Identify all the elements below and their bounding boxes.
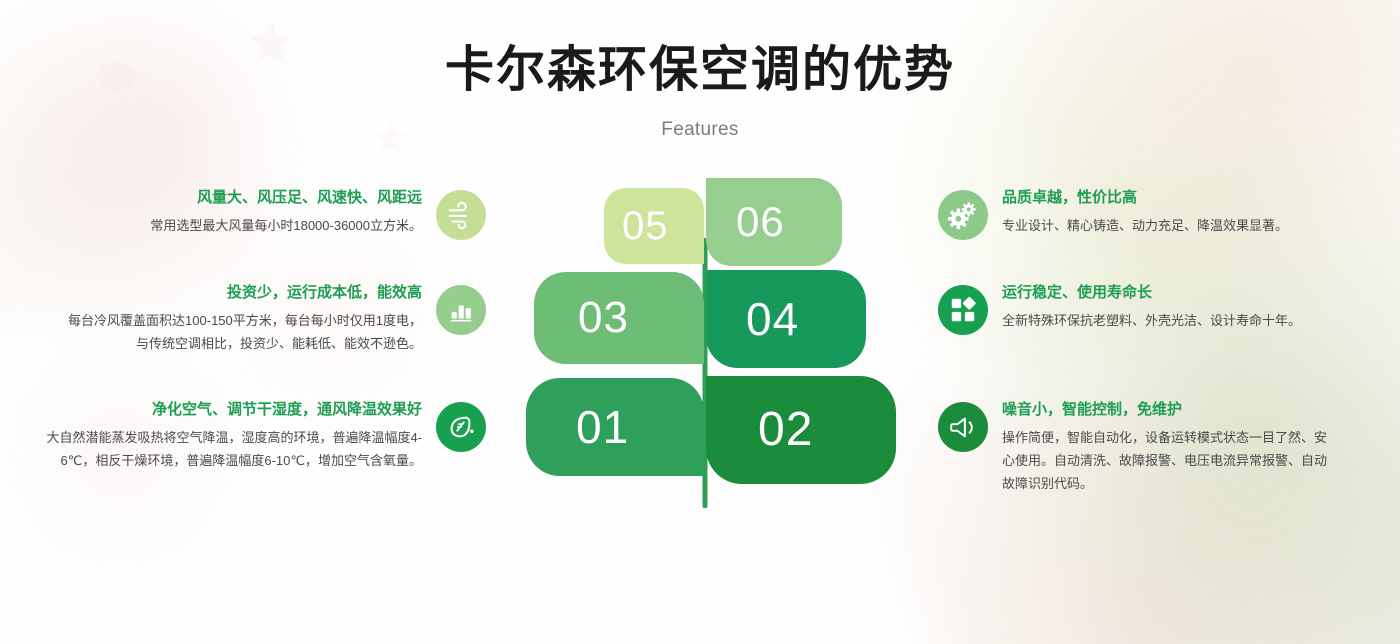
leaf-number: 03	[578, 296, 629, 340]
feature-text-quality: 品质卓越，性价比高 专业设计、精心铸造、动力充足、降温效果显著。	[1002, 188, 1288, 238]
feature-text-stability: 运行稳定、使用寿命长 全新特殊环保抗老塑料、外壳光洁、设计寿命十年。	[1002, 283, 1301, 333]
feature-item-noise[interactable]: 噪音小，智能控制，免维护 操作简便，智能自动化，设备运转模式状态一目了然、安心使…	[938, 400, 1338, 496]
leaf-badge-04[interactable]: 04	[706, 270, 866, 368]
feature-title: 净化空气、调节干湿度，通风降温效果好	[152, 400, 422, 420]
feature-description: 全新特殊环保抗老塑料、外壳光洁、设计寿命十年。	[1002, 310, 1301, 333]
leaf-number: 04	[746, 296, 799, 342]
grid-squares-icon	[938, 285, 988, 335]
leaf-badge-03[interactable]: 03	[534, 272, 704, 364]
header: 卡尔森环保空调的优势 Features	[0, 0, 1400, 141]
feature-title: 运行稳定、使用寿命长	[1002, 283, 1152, 303]
gears-icon	[938, 190, 988, 240]
feature-item-stability[interactable]: 运行稳定、使用寿命长 全新特殊环保抗老塑料、外壳光洁、设计寿命十年。	[938, 283, 1358, 335]
leaf-number: 05	[622, 206, 669, 246]
page-subtitle: Features	[0, 119, 1400, 141]
leaf-number: 02	[758, 406, 813, 454]
feature-item-air-purification[interactable]: 净化空气、调节干湿度，通风降温效果好 大自然潜能蒸发吸热将空气降温，湿度高的环境…	[46, 400, 486, 473]
feature-item-wind[interactable]: 风量大、风压足、风速快、风距远 常用选型最大风量每小时18000-36000立方…	[66, 188, 486, 240]
feature-title: 风量大、风压足、风速快、风距远	[197, 188, 422, 208]
leaf-icon	[436, 402, 486, 452]
features-content: 风量大、风压足、风速快、风距远 常用选型最大风量每小时18000-36000立方…	[0, 178, 1400, 578]
feature-description: 大自然潜能蒸发吸热将空气降温，湿度高的环境，普遍降温幅度4-6℃，相反干燥环境，…	[46, 427, 422, 473]
leaf-number: 06	[736, 201, 785, 243]
speaker-icon	[938, 402, 988, 452]
feature-title: 品质卓越，性价比高	[1002, 188, 1137, 208]
feature-text-noise: 噪音小，智能控制，免维护 操作简便，智能自动化，设备运转模式状态一目了然、安心使…	[1002, 400, 1338, 496]
slide-canvas: 卡尔森环保空调的优势 Features 风量大、风压足、风速快、风距远 常用选型…	[0, 0, 1400, 644]
wind-icon	[436, 190, 486, 240]
leaf-badge-05[interactable]: 05	[604, 188, 704, 264]
page-title: 卡尔森环保空调的优势	[0, 44, 1400, 97]
bar-chart-icon	[436, 285, 486, 335]
feature-item-quality[interactable]: 品质卓越，性价比高 专业设计、精心铸造、动力充足、降温效果显著。	[938, 188, 1358, 240]
leaf-badge-02[interactable]: 02	[706, 376, 896, 484]
feature-item-investment[interactable]: 投资少，运行成本低，能效高 每台冷风覆盖面积达100-150平方米，每台每小时仅…	[66, 283, 486, 356]
feature-text-wind: 风量大、风压足、风速快、风距远 常用选型最大风量每小时18000-36000立方…	[150, 188, 422, 238]
leaf-badge-01[interactable]: 01	[526, 378, 704, 476]
feature-description: 操作简便，智能自动化，设备运转模式状态一目了然、安心使用。自动清洗、故障报警、电…	[1002, 427, 1338, 495]
feature-text-investment: 投资少，运行成本低，能效高 每台冷风覆盖面积达100-150平方米，每台每小时仅…	[66, 283, 422, 356]
feature-description: 专业设计、精心铸造、动力充足、降温效果显著。	[1002, 215, 1288, 238]
feature-title: 投资少，运行成本低，能效高	[227, 283, 422, 303]
leaf-badge-06[interactable]: 06	[706, 178, 842, 266]
leaf-number-cluster: 05 06 03	[500, 178, 900, 578]
feature-description: 每台冷风覆盖面积达100-150平方米，每台每小时仅用1度电，与传统空调相比，投…	[66, 310, 422, 356]
leaf-number: 01	[576, 404, 629, 450]
feature-title: 噪音小，智能控制，免维护	[1002, 400, 1182, 420]
feature-text-air-purification: 净化空气、调节干湿度，通风降温效果好 大自然潜能蒸发吸热将空气降温，湿度高的环境…	[46, 400, 422, 473]
feature-description: 常用选型最大风量每小时18000-36000立方米。	[150, 215, 422, 238]
